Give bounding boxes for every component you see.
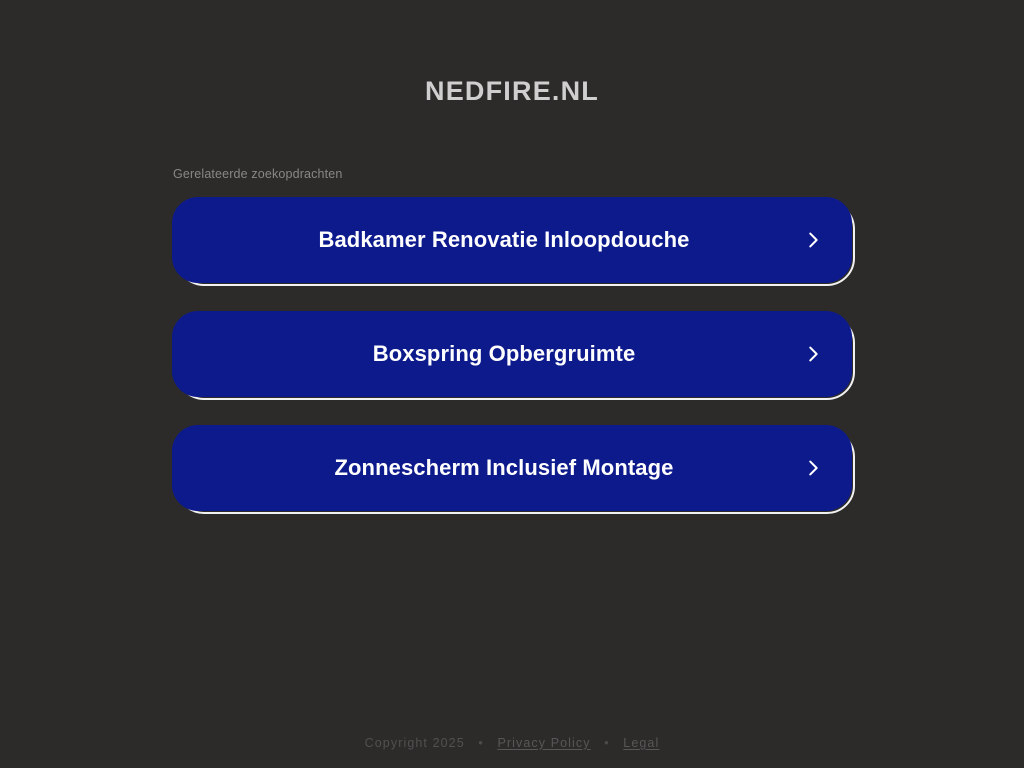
related-searches-list: Badkamer Renovatie Inloopdouche Boxsprin…: [172, 197, 852, 511]
footer-text: Copyright 2025 • Privacy Policy • Legal: [365, 737, 660, 750]
page-footer: Copyright 2025 • Privacy Policy • Legal: [0, 726, 1024, 768]
list-item: Zonnescherm Inclusief Montage: [172, 425, 852, 511]
card-label: Badkamer Renovatie Inloopdouche: [194, 227, 796, 252]
legal-link[interactable]: Legal: [623, 736, 659, 750]
main-content: Gerelateerde zoekopdrachten Badkamer Ren…: [0, 105, 1024, 726]
list-item: Boxspring Opbergruimte: [172, 311, 852, 397]
card-label: Zonnescherm Inclusief Montage: [194, 455, 796, 480]
footer-separator-2: •: [595, 737, 618, 750]
footer-separator-1: •: [469, 737, 492, 750]
related-search-card-1[interactable]: Badkamer Renovatie Inloopdouche: [172, 197, 852, 283]
chevron-right-icon: [802, 229, 824, 251]
chevron-right-icon: [802, 343, 824, 365]
content-column: Gerelateerde zoekopdrachten Badkamer Ren…: [172, 168, 852, 511]
site-title: NEDFIRE.NL: [0, 78, 1024, 105]
related-search-card-2[interactable]: Boxspring Opbergruimte: [172, 311, 852, 397]
privacy-policy-link[interactable]: Privacy Policy: [497, 736, 590, 750]
copyright-text: Copyright 2025: [365, 736, 465, 750]
card-label: Boxspring Opbergruimte: [194, 341, 796, 366]
page-header: NEDFIRE.NL: [0, 0, 1024, 105]
related-search-card-3[interactable]: Zonnescherm Inclusief Montage: [172, 425, 852, 511]
list-item: Badkamer Renovatie Inloopdouche: [172, 197, 852, 283]
related-searches-label: Gerelateerde zoekopdrachten: [172, 168, 852, 181]
chevron-right-icon: [802, 457, 824, 479]
page-root: NEDFIRE.NL Gerelateerde zoekopdrachten B…: [0, 0, 1024, 768]
